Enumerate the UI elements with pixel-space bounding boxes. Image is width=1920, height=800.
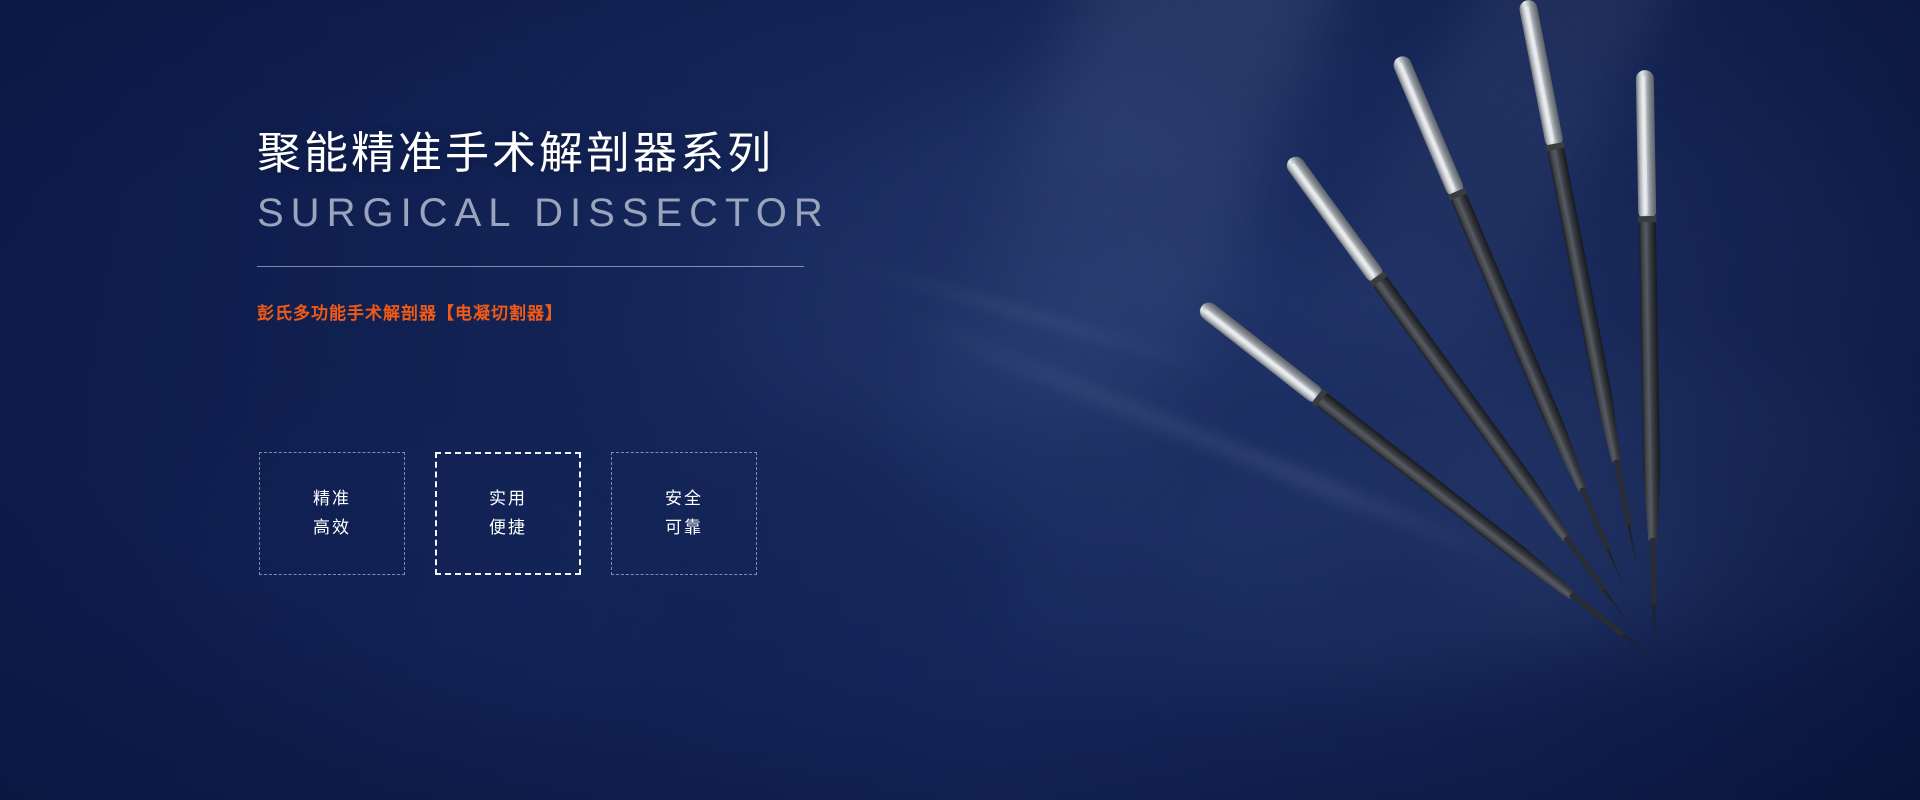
feature-badge-3-line2: 可靠	[665, 514, 703, 542]
hero-banner: 聚能精准手术解剖器系列 SURGICAL DISSECTOR 彭氏多功能手术解剖…	[0, 0, 1920, 800]
feature-badge-3-line1: 安全	[665, 485, 703, 513]
vignette-overlay	[0, 0, 1920, 800]
page-subtitle-en: SURGICAL DISSECTOR	[257, 190, 957, 236]
feature-badges: 精准 高效 实用 便捷 安全 可靠	[259, 452, 757, 575]
product-name-label: 彭氏多功能手术解剖器【电凝切割器】	[257, 299, 957, 324]
feature-badge-3[interactable]: 安全 可靠	[611, 452, 757, 575]
feature-badge-2-line2: 便捷	[489, 514, 527, 542]
feature-badge-1[interactable]: 精准 高效	[259, 452, 405, 575]
page-title: 聚能精准手术解剖器系列	[257, 128, 957, 180]
divider	[257, 266, 804, 267]
hero-copy: 聚能精准手术解剖器系列 SURGICAL DISSECTOR 彭氏多功能手术解剖…	[257, 128, 957, 324]
feature-badge-2[interactable]: 实用 便捷	[435, 452, 581, 575]
feature-badge-1-line1: 精准	[313, 485, 351, 513]
feature-badge-1-line2: 高效	[313, 514, 351, 542]
feature-badge-2-line1: 实用	[489, 485, 527, 513]
